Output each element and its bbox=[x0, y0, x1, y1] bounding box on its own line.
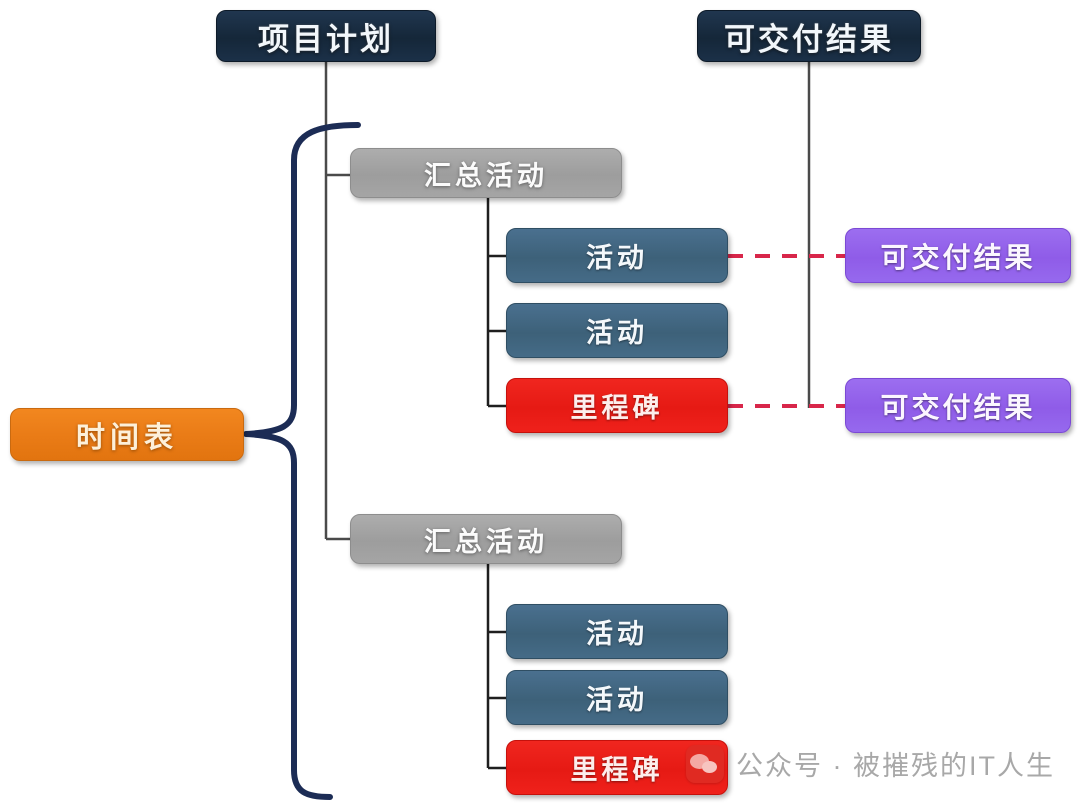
node-milestone-1-label: 里程碑 bbox=[571, 386, 664, 425]
node-activity-2-2[interactable]: 活动 bbox=[506, 670, 728, 725]
node-deliverable-1-label: 可交付结果 bbox=[880, 236, 1035, 276]
node-deliverables-header-label: 可交付结果 bbox=[724, 14, 894, 59]
diagram-canvas: 项目计划 可交付结果 时间表 汇总活动 活动 活动 里程碑 汇总活动 活动 活动… bbox=[0, 0, 1080, 810]
node-summary-activity-1[interactable]: 汇总活动 bbox=[350, 148, 622, 198]
node-activity-1-2[interactable]: 活动 bbox=[506, 303, 728, 358]
node-activity-1-1[interactable]: 活动 bbox=[506, 228, 728, 283]
watermark: 公众号 · 被摧残的IT人生 bbox=[686, 744, 1055, 783]
node-deliverable-2-label: 可交付结果 bbox=[880, 386, 1035, 426]
node-activity-2-1-label: 活动 bbox=[586, 612, 648, 651]
node-summary-activity-1-label: 汇总活动 bbox=[424, 154, 548, 193]
node-milestone-2-label: 里程碑 bbox=[571, 748, 664, 787]
node-deliverable-2[interactable]: 可交付结果 bbox=[845, 378, 1071, 433]
node-schedule-label: 时间表 bbox=[76, 414, 178, 456]
node-milestone-1[interactable]: 里程碑 bbox=[506, 378, 728, 433]
node-summary-activity-2-label: 汇总活动 bbox=[424, 520, 548, 559]
wechat-icon bbox=[686, 745, 724, 783]
node-activity-2-2-label: 活动 bbox=[586, 678, 648, 717]
watermark-text: 公众号 · 被摧残的IT人生 bbox=[736, 744, 1055, 783]
node-activity-2-1[interactable]: 活动 bbox=[506, 604, 728, 659]
brace-schedule bbox=[246, 125, 358, 797]
node-activity-1-1-label: 活动 bbox=[586, 236, 648, 275]
node-deliverable-1[interactable]: 可交付结果 bbox=[845, 228, 1071, 283]
node-deliverables-header[interactable]: 可交付结果 bbox=[697, 10, 921, 62]
node-project-plan-label: 项目计划 bbox=[258, 14, 394, 59]
node-schedule[interactable]: 时间表 bbox=[10, 408, 244, 461]
node-project-plan[interactable]: 项目计划 bbox=[216, 10, 436, 62]
node-activity-1-2-label: 活动 bbox=[586, 311, 648, 350]
node-summary-activity-2[interactable]: 汇总活动 bbox=[350, 514, 622, 564]
